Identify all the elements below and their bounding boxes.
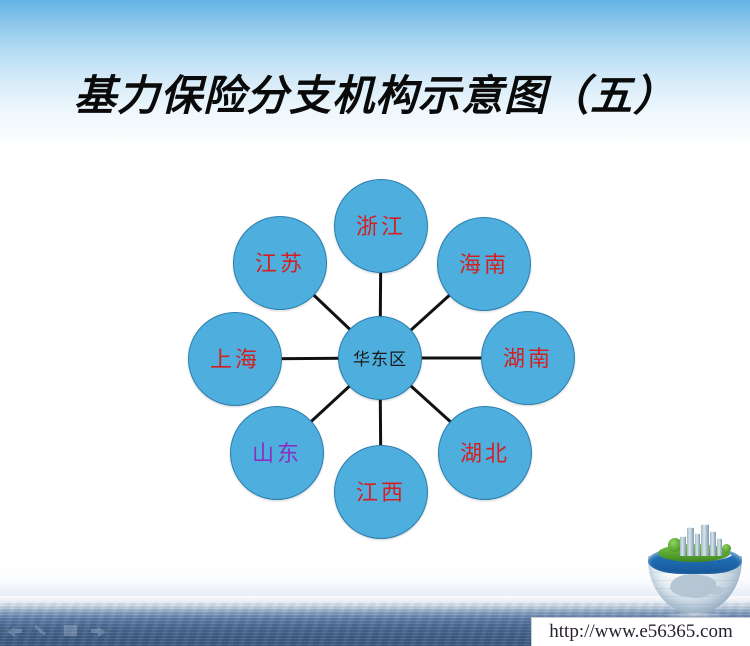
node-label: 湖南 — [503, 341, 553, 373]
diagram-node-hainan[interactable]: 海南 — [437, 217, 531, 311]
node-label: 山东 — [252, 436, 302, 468]
building-3 — [695, 533, 700, 556]
globe-landmass-secondary — [708, 586, 724, 595]
org-structure-diagram: 浙江 海南 湖南 湖北 江西 山东 上海 江苏 华东区 — [0, 0, 750, 646]
diagram-node-hubei[interactable]: 湖北 — [438, 406, 532, 500]
watermark-url-box[interactable]: http://www.e56365.com — [531, 617, 750, 646]
building-1 — [680, 536, 686, 556]
tree-icon-small — [722, 544, 731, 553]
diagram-node-shanghai[interactable]: 上海 — [188, 312, 282, 406]
building-4 — [701, 524, 709, 556]
diagram-node-center-huadong[interactable]: 华东区 — [338, 316, 422, 400]
diagram-node-hunan[interactable]: 湖南 — [481, 311, 575, 405]
node-label: 上海 — [210, 342, 260, 374]
building-2 — [687, 527, 694, 556]
city-skyline-icon — [680, 524, 722, 556]
node-label: 华东区 — [353, 345, 407, 370]
globe-city-logo — [646, 526, 744, 618]
building-6 — [717, 538, 722, 556]
node-label: 海南 — [459, 247, 509, 279]
node-label: 浙江 — [356, 209, 406, 241]
node-label: 湖北 — [460, 436, 510, 468]
slide-canvas: 基力保险分支机构示意图（五） 浙江 海南 湖南 湖北 — [0, 0, 750, 646]
diagram-node-jiangxi[interactable]: 江西 — [334, 445, 428, 539]
diagram-node-zhejiang[interactable]: 浙江 — [334, 179, 428, 273]
watermark-url-text: http://www.e56365.com — [549, 621, 732, 643]
building-5 — [710, 531, 716, 556]
node-label: 江西 — [356, 475, 406, 507]
diagram-node-jiangsu[interactable]: 江苏 — [233, 216, 327, 310]
diagram-node-shandong[interactable]: 山东 — [230, 406, 324, 500]
node-label: 江苏 — [255, 246, 305, 278]
globe-landmass — [670, 574, 716, 598]
